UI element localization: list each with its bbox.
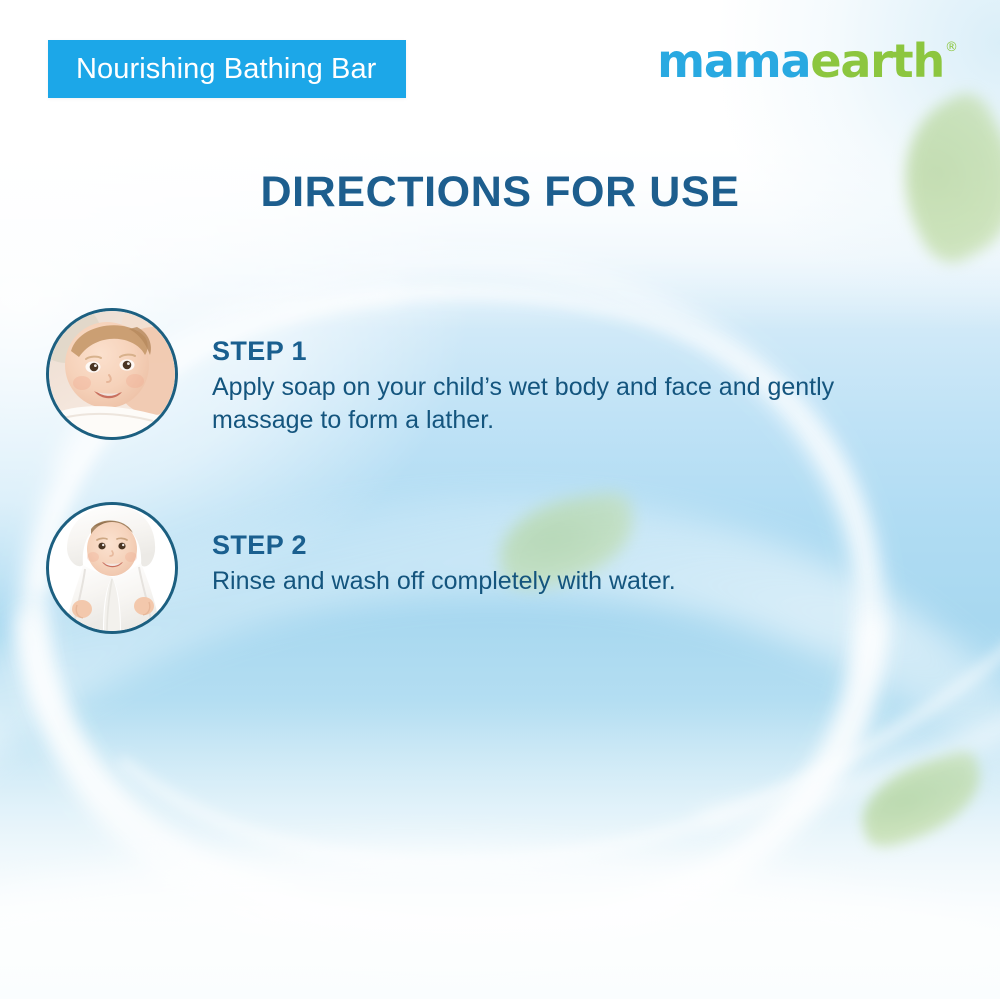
step-2-photo-circle <box>46 502 178 634</box>
product-name-banner: Nourishing Bathing Bar <box>48 40 406 98</box>
step-1-text-block: STEP 1 Apply soap on your child’s wet bo… <box>212 308 892 437</box>
step-2-photo <box>49 505 175 631</box>
promo-banner-canvas: Nourishing Bathing Bar mamaearth® DIRECT… <box>0 0 1000 999</box>
step-2-text-block: STEP 2 Rinse and wash off completely wit… <box>212 502 676 598</box>
step-2-description: Rinse and wash off completely with water… <box>212 565 676 598</box>
steps-list: STEP 1 Apply soap on your child’s wet bo… <box>0 300 1000 634</box>
baby-in-bathrobe-photo-illustration <box>49 505 175 631</box>
step-1-photo <box>49 311 175 437</box>
list-item: STEP 1 Apply soap on your child’s wet bo… <box>46 308 1000 440</box>
step-1-description: Apply soap on your child’s wet body and … <box>212 371 892 437</box>
step-1-photo-circle <box>46 308 178 440</box>
step-2-label: STEP 2 <box>212 530 676 561</box>
list-item: STEP 2 Rinse and wash off completely wit… <box>46 502 1000 634</box>
page-title: DIRECTIONS FOR USE <box>0 168 1000 217</box>
product-name-label: Nourishing Bathing Bar <box>76 53 376 86</box>
step-1-label: STEP 1 <box>212 336 892 367</box>
registered-trademark-icon: ® <box>945 41 958 54</box>
brand-logo: mamaearth® <box>657 38 958 84</box>
background-bottom-highlight <box>0 699 1000 999</box>
brand-logo-mama-text: mama <box>657 38 810 84</box>
brand-logo-earth-text: earth <box>810 38 944 84</box>
header: Nourishing Bathing Bar mamaearth® <box>0 0 1000 130</box>
smiling-baby-photo-illustration <box>49 311 175 437</box>
